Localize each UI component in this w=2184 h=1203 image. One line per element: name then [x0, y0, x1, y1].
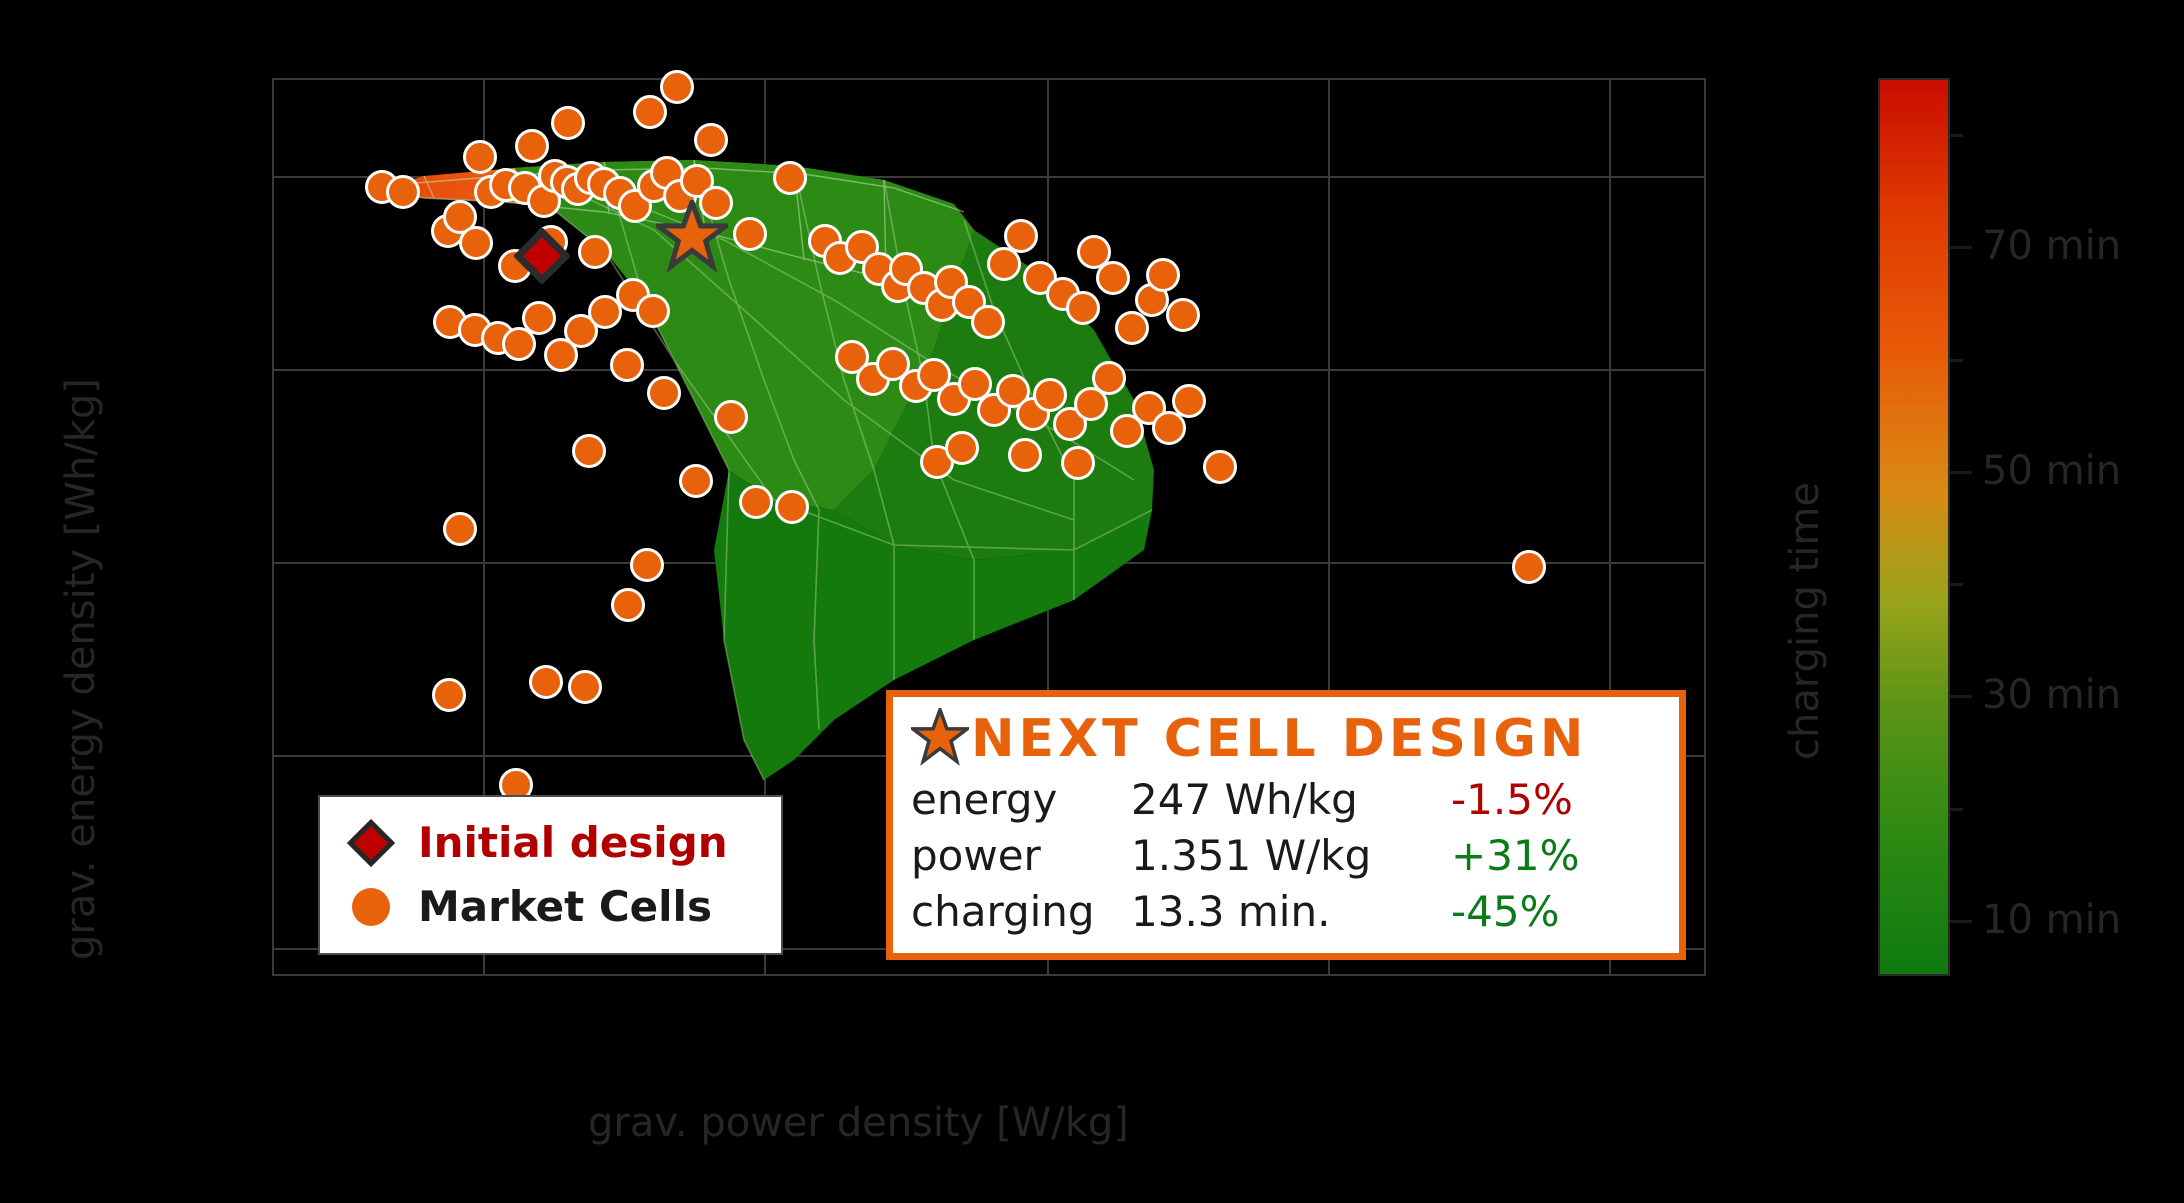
legend-label-market-cells: Market Cells	[418, 886, 712, 928]
market-cell-point[interactable]	[610, 348, 644, 382]
market-cell-point[interactable]	[971, 305, 1005, 339]
legend-label-initial-design: Initial design	[418, 822, 728, 864]
infobox-title-row: NEXT CELL DESIGN	[911, 707, 1661, 771]
colorbar-tick	[1950, 695, 1972, 698]
market-cell-point[interactable]	[1061, 446, 1095, 480]
market-cell-point[interactable]	[1115, 311, 1149, 345]
initial-design-marker[interactable]	[514, 228, 570, 288]
market-cell-point[interactable]	[739, 485, 773, 519]
infobox-value: 247 Wh/kg	[1131, 775, 1451, 824]
market-cell-point[interactable]	[660, 70, 694, 104]
market-cell-point[interactable]	[432, 678, 466, 712]
colorbar-tick	[1950, 471, 1972, 474]
next-cell-design-infobox: NEXT CELL DESIGN energy 247 Wh/kg -1.5% …	[886, 690, 1686, 960]
market-cell-point[interactable]	[679, 464, 713, 498]
infobox-value: 1.351 W/kg	[1131, 831, 1451, 880]
market-cell-point[interactable]	[1512, 550, 1546, 584]
market-cell-point[interactable]	[773, 161, 807, 195]
market-cell-point[interactable]	[1066, 291, 1100, 325]
market-cell-point[interactable]	[775, 490, 809, 524]
colorbar-minor-tick	[1950, 134, 1963, 137]
colorbar-axis-label: charging time	[1782, 160, 1828, 760]
colorbar-tick	[1950, 246, 1972, 249]
legend-box: Initial design Market Cells	[318, 795, 783, 955]
next-cell-design-marker[interactable]	[656, 200, 728, 276]
infobox-row-energy: energy 247 Wh/kg -1.5%	[911, 775, 1661, 831]
market-cell-point[interactable]	[1146, 258, 1180, 292]
infobox-row-power: power 1.351 W/kg +31%	[911, 831, 1661, 887]
figure-root: grav. energy density [Wh/kg] grav. power…	[0, 0, 2184, 1203]
market-cell-point[interactable]	[578, 235, 612, 269]
infobox-key: power	[911, 831, 1131, 880]
colorbar-gradient	[1878, 78, 1950, 976]
diamond-icon	[346, 826, 396, 860]
market-cell-point[interactable]	[1152, 411, 1186, 445]
circle-icon	[346, 888, 396, 926]
colorbar-minor-tick	[1950, 359, 1963, 362]
star-icon	[911, 708, 969, 770]
market-cell-point[interactable]	[1092, 361, 1126, 395]
colorbar-tick-label: 70 min	[1982, 223, 2121, 269]
market-cell-point[interactable]	[522, 301, 556, 335]
infobox-key: charging	[911, 887, 1131, 936]
colorbar-tick-label: 30 min	[1982, 672, 2121, 718]
x-axis-label: grav. power density [W/kg]	[588, 1100, 1129, 1146]
infobox-delta: -1.5%	[1451, 775, 1573, 824]
colorbar-tick-label: 10 min	[1982, 897, 2121, 943]
infobox-delta: +31%	[1451, 831, 1580, 880]
colorbar-tick	[1950, 920, 1972, 923]
market-cell-point[interactable]	[551, 106, 585, 140]
colorbar-tick-label: 50 min	[1982, 448, 2121, 494]
infobox-title: NEXT CELL DESIGN	[971, 713, 1587, 765]
market-cell-point[interactable]	[568, 670, 602, 704]
market-cell-point[interactable]	[1033, 378, 1067, 412]
market-cell-point[interactable]	[630, 548, 664, 582]
infobox-value: 13.3 min.	[1131, 887, 1451, 936]
legend-item-initial-design[interactable]: Initial design	[346, 814, 781, 872]
market-cell-point[interactable]	[529, 665, 563, 699]
infobox-delta: -45%	[1451, 887, 1560, 936]
market-cell-point[interactable]	[714, 400, 748, 434]
infobox-row-charging: charging 13.3 min. -45%	[911, 887, 1661, 943]
market-cell-point[interactable]	[636, 294, 670, 328]
market-cell-point[interactable]	[633, 95, 667, 129]
colorbar-minor-tick	[1950, 808, 1963, 811]
legend-item-market-cells[interactable]: Market Cells	[346, 878, 781, 936]
colorbar: 70 min50 min30 min10 min	[1878, 78, 1950, 976]
colorbar-minor-tick	[1950, 583, 1963, 586]
infobox-key: energy	[911, 775, 1131, 824]
y-axis-label: grav. energy density [Wh/kg]	[58, 0, 104, 960]
